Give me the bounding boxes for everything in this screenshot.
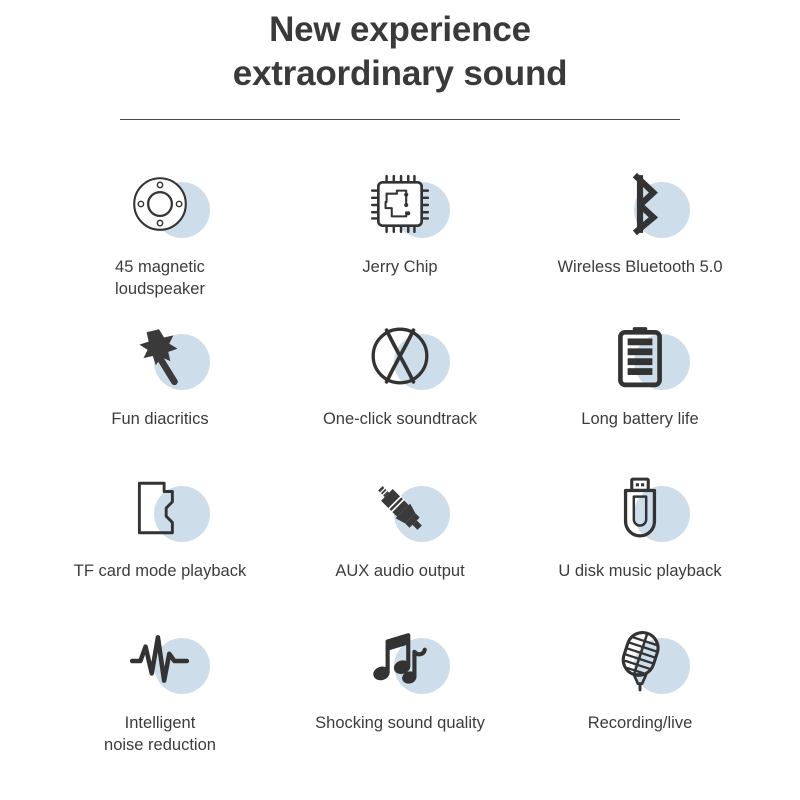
feature-item: Intelligent noise reduction xyxy=(40,618,280,770)
header-divider xyxy=(120,119,680,120)
chip-icon xyxy=(367,171,433,237)
icon-container xyxy=(112,466,208,550)
usb-drive-icon xyxy=(607,475,673,541)
feature-item: Fun diacritics xyxy=(40,314,280,466)
feature-item: TF card mode playback xyxy=(40,466,280,618)
feature-label: Intelligent noise reduction xyxy=(104,712,216,757)
page-title-line-2: extraordinary sound xyxy=(0,52,800,96)
feature-label: Recording/live xyxy=(588,712,693,734)
tf-card-icon xyxy=(127,475,193,541)
feature-page: New experience extraordinary sound 45 ma… xyxy=(0,0,800,800)
feature-label: Shocking sound quality xyxy=(315,712,485,734)
circle-x-icon xyxy=(367,323,433,389)
feature-label: One-click soundtrack xyxy=(323,408,477,430)
icon-container xyxy=(112,162,208,246)
speaker-icon xyxy=(127,171,193,237)
icon-container xyxy=(112,618,208,702)
icon-container xyxy=(352,162,448,246)
feature-item: One-click soundtrack xyxy=(280,314,520,466)
feature-item: Wireless Bluetooth 5.0 xyxy=(520,162,760,314)
icon-container xyxy=(592,618,688,702)
waveform-icon xyxy=(127,627,193,693)
feature-grid: 45 magnetic loudspeaker xyxy=(0,162,800,770)
icon-container xyxy=(592,314,688,398)
icon-container xyxy=(592,466,688,550)
feature-label: Wireless Bluetooth 5.0 xyxy=(557,256,722,278)
feature-item: AUX audio output xyxy=(280,466,520,618)
feature-label: AUX audio output xyxy=(335,560,464,582)
icon-container xyxy=(352,618,448,702)
feature-label: Fun diacritics xyxy=(111,408,208,430)
feature-label: Long battery life xyxy=(581,408,698,430)
feature-item: Shocking sound quality xyxy=(280,618,520,770)
feature-item: Jerry Chip xyxy=(280,162,520,314)
icon-container xyxy=(352,466,448,550)
feature-label: TF card mode playback xyxy=(74,560,246,582)
feature-label: Jerry Chip xyxy=(362,256,437,278)
icon-container xyxy=(592,162,688,246)
page-header: New experience extraordinary sound xyxy=(0,0,800,120)
feature-item: U disk music playback xyxy=(520,466,760,618)
magic-wand-icon xyxy=(127,323,193,389)
feature-label: 45 magnetic loudspeaker xyxy=(115,256,205,301)
microphone-icon xyxy=(607,627,673,693)
feature-item: Recording/live xyxy=(520,618,760,770)
feature-item: Long battery life xyxy=(520,314,760,466)
icon-container xyxy=(112,314,208,398)
icon-container xyxy=(352,314,448,398)
audio-jack-icon xyxy=(367,475,433,541)
feature-item: 45 magnetic loudspeaker xyxy=(40,162,280,314)
bluetooth-icon xyxy=(607,171,673,237)
feature-label: U disk music playback xyxy=(558,560,721,582)
music-notes-icon xyxy=(367,627,433,693)
battery-icon xyxy=(607,323,673,389)
page-title-line-1: New experience xyxy=(0,8,800,52)
